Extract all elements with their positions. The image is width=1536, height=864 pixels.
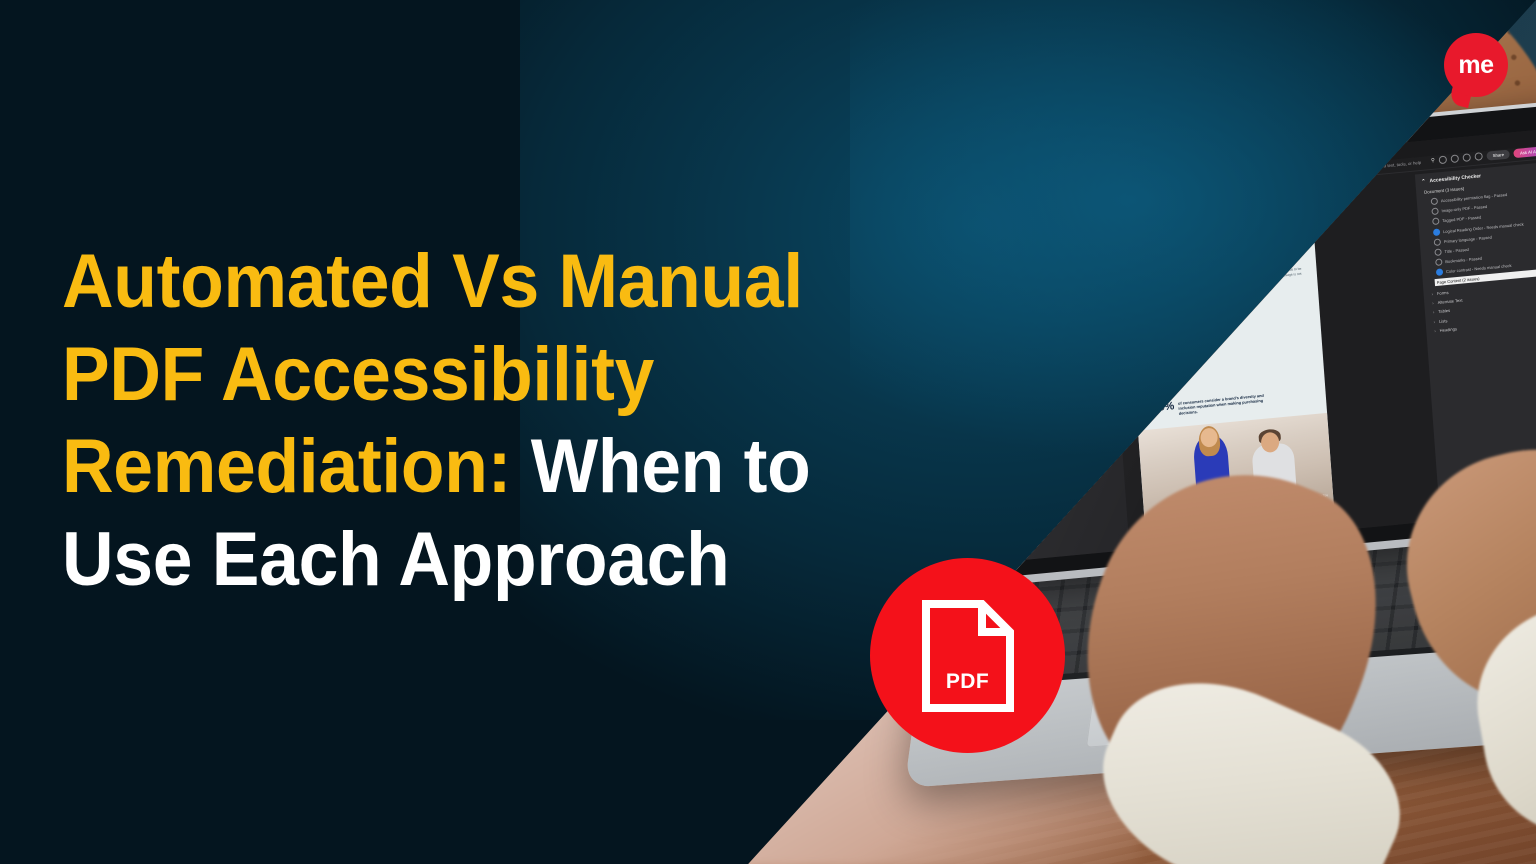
pages-icon[interactable] xyxy=(1439,156,1448,165)
tree-label: Alternate Text xyxy=(1437,298,1462,305)
brand-logo[interactable]: me xyxy=(1444,33,1508,97)
status-icon xyxy=(1431,208,1438,216)
check-label: Image-only PDF - Passed xyxy=(1441,204,1487,213)
checker-title: Accessibility Checker xyxy=(1429,173,1481,184)
status-icon xyxy=(1432,218,1439,226)
tree-label: Lists xyxy=(1439,318,1448,324)
status-icon xyxy=(1431,197,1438,205)
social-card: ⌂ ☆ The State of Inclusiv... × + Create xyxy=(0,0,1536,864)
status-icon xyxy=(1435,258,1442,266)
headline-line-1: Automated Vs Manual xyxy=(62,236,880,329)
headline-line-3-gold: Remediation: xyxy=(62,424,511,509)
chevron-right-icon: › xyxy=(1431,291,1433,296)
check-label: Bookmarks - Passed xyxy=(1445,256,1482,264)
stat-description: of consumers consider a brand's diversit… xyxy=(1178,392,1275,416)
document-icon xyxy=(920,598,1016,714)
status-icon xyxy=(1434,238,1441,246)
status-icon xyxy=(1433,228,1440,236)
headline-line-3: Remediation: When to xyxy=(62,421,880,514)
check-label: Primary language - Passed xyxy=(1444,234,1492,244)
headline-line-3-white: When to xyxy=(531,424,811,509)
home-view-icon[interactable] xyxy=(1462,153,1471,162)
search-icon[interactable]: ⚲ xyxy=(1431,158,1435,165)
pdf-label: PDF xyxy=(870,670,1065,694)
status-icon xyxy=(1434,248,1441,256)
chevron-right-icon: › xyxy=(1434,328,1436,333)
help-icon[interactable] xyxy=(1474,152,1483,161)
logo-text: me xyxy=(1444,33,1508,97)
check-label: Title - Passed xyxy=(1444,247,1469,254)
tree-label: Page Content (2 issues) xyxy=(1437,276,1480,285)
tree-label: Headings xyxy=(1439,326,1457,333)
chevron-right-icon: › xyxy=(1433,310,1435,315)
headline-line-2: PDF Accessibility xyxy=(62,329,880,422)
tree-label: Forms xyxy=(1437,290,1449,296)
headline-line-4: Use Each Approach xyxy=(62,514,880,607)
check-label: Tagged PDF - Passed xyxy=(1442,215,1481,224)
chevron-right-icon: › xyxy=(1432,300,1434,305)
chevron-down-icon[interactable]: ⌃ xyxy=(1421,179,1426,186)
page-title: Automated Vs Manual PDF Accessibility Re… xyxy=(62,236,880,607)
chevron-right-icon: › xyxy=(1433,319,1435,324)
list-icon[interactable] xyxy=(1450,155,1459,164)
tree-label: Tables xyxy=(1438,308,1450,314)
pdf-badge: PDF xyxy=(870,558,1065,753)
status-icon xyxy=(1436,269,1443,277)
